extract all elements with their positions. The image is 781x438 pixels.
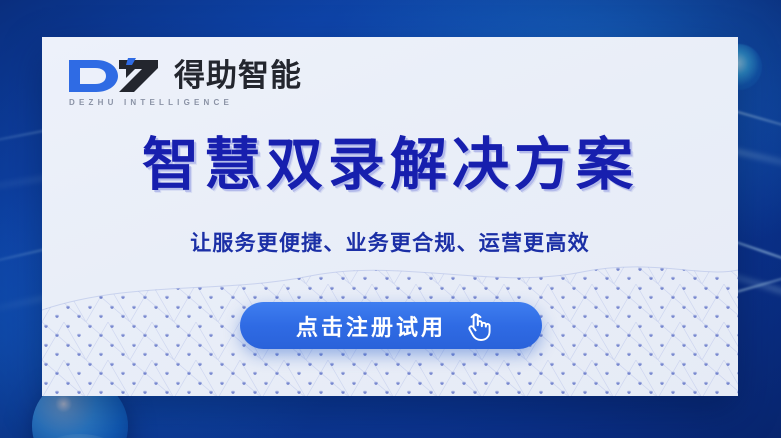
pointing-hand-click-icon (462, 310, 492, 342)
logo-name-cn: 得助智能 (174, 61, 302, 92)
register-trial-button[interactable]: 点击注册试用 (240, 302, 542, 349)
logo-name-en: DEZHU INTELLIGENCE (66, 98, 302, 107)
logo-lockup: 得助智能 (66, 56, 302, 96)
subheadline: 让服务更便捷、业务更合规、运营更高效 (42, 227, 738, 257)
brand-logo: 得助智能 DEZHU INTELLIGENCE (66, 56, 302, 107)
headline: 智慧双录解决方案 (42, 137, 738, 194)
banner-card: 得助智能 DEZHU INTELLIGENCE 智慧双录解决方案 让服务更便捷、… (42, 37, 738, 396)
dz-monogram-icon (66, 56, 166, 96)
register-trial-label: 点击注册试用 (290, 310, 446, 342)
banner-root: 得助智能 DEZHU INTELLIGENCE 智慧双录解决方案 让服务更便捷、… (0, 0, 781, 438)
